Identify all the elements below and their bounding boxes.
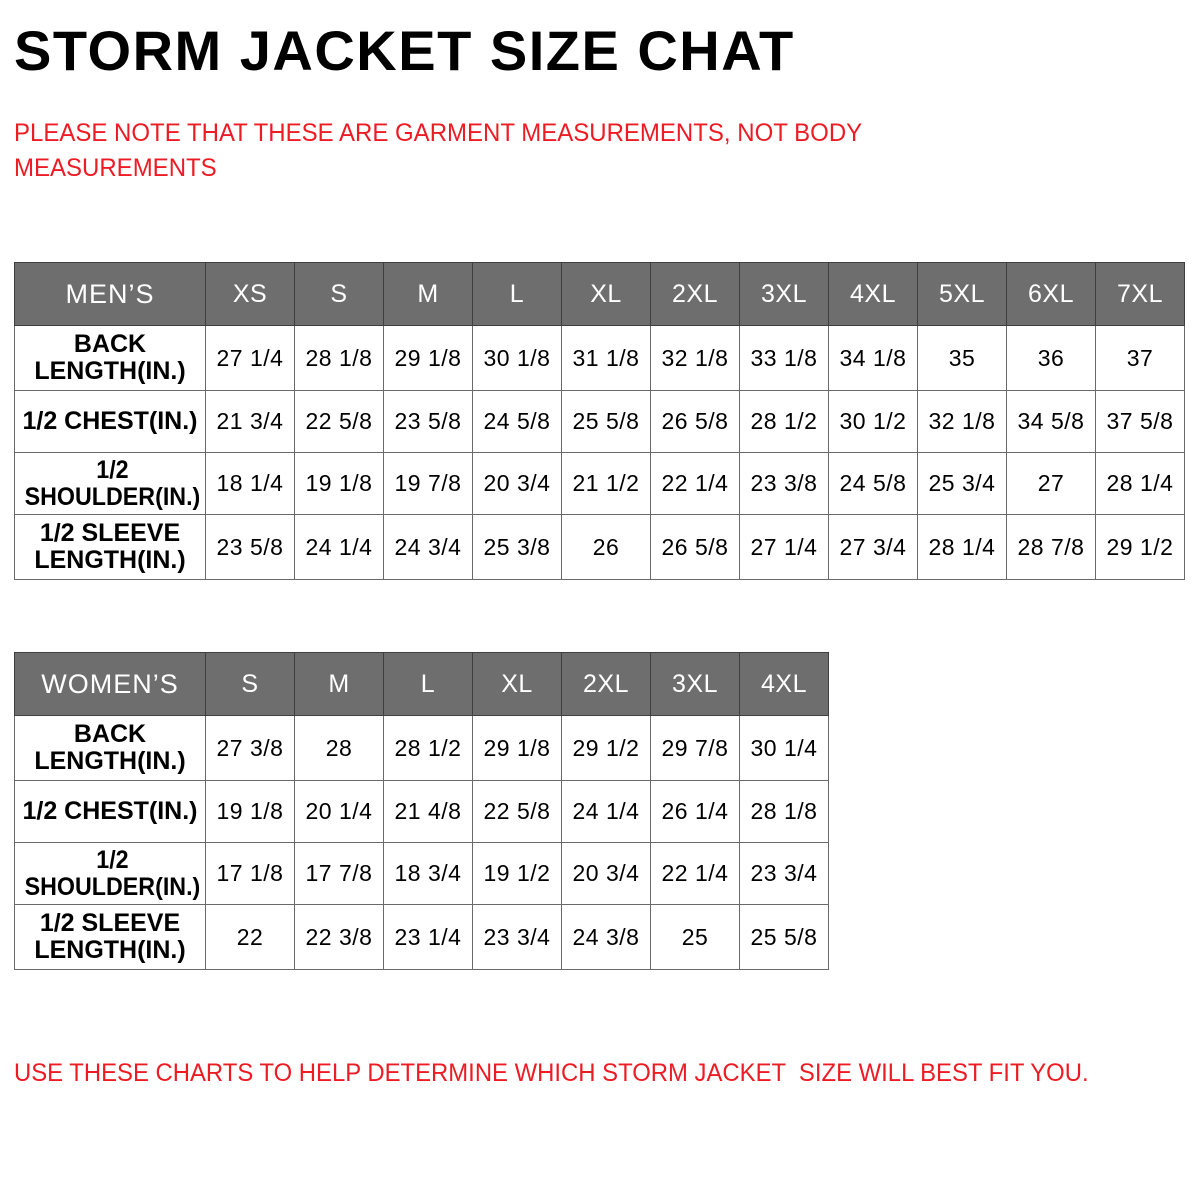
measurement-cell: 21 1/2 — [562, 453, 651, 515]
measurement-cell: 20 3/4 — [562, 843, 651, 905]
measurement-cell: 19 7/8 — [384, 453, 473, 515]
measurement-row-label: BACK LENGTH(IN.) — [15, 326, 206, 391]
table-row: 1/2 SLEEVE LENGTH(IN.)23 5/824 1/424 3/4… — [15, 515, 1185, 580]
measurement-cell: 27 3/8 — [206, 716, 295, 781]
measurement-cell: 22 — [206, 905, 295, 970]
table-row: 1/2 CHEST(IN.)21 3/422 5/823 5/824 5/825… — [15, 391, 1185, 453]
measurement-cell: 28 1/8 — [740, 781, 829, 843]
size-chart-page: STORM JACKET SIZE CHAT PLEASE NOTE THAT … — [0, 0, 1200, 1200]
size-header-5xl: 5XL — [918, 263, 1007, 326]
measurement-cell: 20 3/4 — [473, 453, 562, 515]
row-label-text: 1/2 SHOULDER(IN.) — [25, 847, 201, 901]
measurement-row-label: 1/2 SLEEVE LENGTH(IN.) — [15, 905, 206, 970]
measurement-cell: 28 1/2 — [384, 716, 473, 781]
measurement-cell: 23 1/4 — [384, 905, 473, 970]
size-header-7xl: 7XL — [1096, 263, 1185, 326]
table-row: 1/2 CHEST(IN.)19 1/820 1/421 4/822 5/824… — [15, 781, 829, 843]
size-header-l: L — [473, 263, 562, 326]
measurement-cell: 19 1/8 — [295, 453, 384, 515]
size-header-4xl: 4XL — [740, 653, 829, 716]
table-row: BACK LENGTH(IN.)27 1/428 1/829 1/830 1/8… — [15, 326, 1185, 391]
womens-table-header: WOMEN’S SMLXL2XL3XL4XL — [15, 653, 829, 716]
measurement-cell: 26 1/4 — [651, 781, 740, 843]
measurement-cell: 18 3/4 — [384, 843, 473, 905]
measurement-cell: 29 1/2 — [1096, 515, 1185, 580]
mens-header-row: MEN’S XSSMLXL2XL3XL4XL5XL6XL7XL — [15, 263, 1185, 326]
mens-size-table: MEN’S XSSMLXL2XL3XL4XL5XL6XL7XL BACK LEN… — [14, 262, 1185, 580]
measurement-cell: 33 1/8 — [740, 326, 829, 391]
measurement-cell: 25 5/8 — [562, 391, 651, 453]
measurement-cell: 36 — [1007, 326, 1096, 391]
measurement-cell: 21 3/4 — [206, 391, 295, 453]
measurement-cell: 24 5/8 — [473, 391, 562, 453]
measurement-cell: 35 — [918, 326, 1007, 391]
measurement-cell: 28 1/4 — [1096, 453, 1185, 515]
measurement-cell: 22 1/4 — [651, 843, 740, 905]
measurement-cell: 24 3/8 — [562, 905, 651, 970]
measurement-cell: 25 3/8 — [473, 515, 562, 580]
page-title: STORM JACKET SIZE CHAT — [14, 22, 795, 81]
measurement-cell: 34 1/8 — [829, 326, 918, 391]
garment-measurement-note: PLEASE NOTE THAT THESE ARE GARMENT MEASU… — [14, 116, 936, 185]
measurement-cell: 29 1/2 — [562, 716, 651, 781]
measurement-cell: 17 1/8 — [206, 843, 295, 905]
measurement-cell: 28 1/8 — [295, 326, 384, 391]
measurement-cell: 29 1/8 — [473, 716, 562, 781]
measurement-row-label: 1/2 CHEST(IN.) — [15, 391, 206, 453]
measurement-row-label: BACK LENGTH(IN.) — [15, 716, 206, 781]
measurement-row-label: 1/2 SHOULDER(IN.) — [15, 843, 206, 905]
row-label-text: BACK LENGTH(IN.) — [34, 720, 185, 775]
measurement-cell: 28 7/8 — [1007, 515, 1096, 580]
size-header-xs: XS — [206, 263, 295, 326]
measurement-cell: 23 3/4 — [740, 843, 829, 905]
measurement-cell: 26 — [562, 515, 651, 580]
measurement-cell: 34 5/8 — [1007, 391, 1096, 453]
measurement-cell: 37 5/8 — [1096, 391, 1185, 453]
size-header-xl: XL — [562, 263, 651, 326]
measurement-cell: 32 1/8 — [918, 391, 1007, 453]
measurement-cell: 25 5/8 — [740, 905, 829, 970]
size-header-m: M — [295, 653, 384, 716]
measurement-cell: 26 5/8 — [651, 515, 740, 580]
row-label-text: 1/2 SLEEVE LENGTH(IN.) — [34, 909, 185, 964]
measurement-cell: 27 3/4 — [829, 515, 918, 580]
measurement-row-label: 1/2 SLEEVE LENGTH(IN.) — [15, 515, 206, 580]
womens-size-table: WOMEN’S SMLXL2XL3XL4XL BACK LENGTH(IN.)2… — [14, 652, 829, 970]
measurement-cell: 24 1/4 — [562, 781, 651, 843]
measurement-cell: 22 5/8 — [295, 391, 384, 453]
measurement-cell: 23 3/8 — [740, 453, 829, 515]
womens-table-body: BACK LENGTH(IN.)27 3/82828 1/229 1/829 1… — [15, 716, 829, 970]
measurement-cell: 23 5/8 — [206, 515, 295, 580]
mens-corner-label: MEN’S — [15, 263, 206, 326]
measurement-cell: 37 — [1096, 326, 1185, 391]
measurement-cell: 31 1/8 — [562, 326, 651, 391]
row-label-text: 1/2 SHOULDER(IN.) — [25, 457, 201, 511]
size-header-s: S — [295, 263, 384, 326]
measurement-cell: 17 7/8 — [295, 843, 384, 905]
measurement-cell: 30 1/8 — [473, 326, 562, 391]
measurement-cell: 30 1/4 — [740, 716, 829, 781]
measurement-cell: 27 1/4 — [206, 326, 295, 391]
womens-corner-label: WOMEN’S — [15, 653, 206, 716]
womens-header-row: WOMEN’S SMLXL2XL3XL4XL — [15, 653, 829, 716]
size-header-4xl: 4XL — [829, 263, 918, 326]
table-row: 1/2 SHOULDER(IN.)18 1/419 1/819 7/820 3/… — [15, 453, 1185, 515]
size-header-2xl: 2XL — [651, 263, 740, 326]
measurement-cell: 20 1/4 — [295, 781, 384, 843]
row-label-text: 1/2 SLEEVE LENGTH(IN.) — [34, 519, 185, 574]
row-label-text: 1/2 CHEST(IN.) — [22, 797, 197, 825]
measurement-cell: 29 1/8 — [384, 326, 473, 391]
measurement-cell: 32 1/8 — [651, 326, 740, 391]
measurement-cell: 23 5/8 — [384, 391, 473, 453]
measurement-cell: 25 3/4 — [918, 453, 1007, 515]
measurement-cell: 22 3/8 — [295, 905, 384, 970]
measurement-cell: 24 5/8 — [829, 453, 918, 515]
measurement-cell: 19 1/8 — [206, 781, 295, 843]
measurement-cell: 28 1/4 — [918, 515, 1007, 580]
measurement-cell: 24 1/4 — [295, 515, 384, 580]
footer-help-note: USE THESE CHARTS TO HELP DETERMINE WHICH… — [14, 1057, 1122, 1090]
measurement-cell: 27 1/4 — [740, 515, 829, 580]
size-header-2xl: 2XL — [562, 653, 651, 716]
size-header-3xl: 3XL — [740, 263, 829, 326]
row-label-text: 1/2 CHEST(IN.) — [22, 407, 197, 435]
mens-table-body: BACK LENGTH(IN.)27 1/428 1/829 1/830 1/8… — [15, 326, 1185, 580]
measurement-cell: 28 — [295, 716, 384, 781]
size-header-6xl: 6XL — [1007, 263, 1096, 326]
measurement-cell: 22 5/8 — [473, 781, 562, 843]
size-header-3xl: 3XL — [651, 653, 740, 716]
measurement-cell: 30 1/2 — [829, 391, 918, 453]
measurement-row-label: 1/2 SHOULDER(IN.) — [15, 453, 206, 515]
mens-table-header: MEN’S XSSMLXL2XL3XL4XL5XL6XL7XL — [15, 263, 1185, 326]
measurement-cell: 27 — [1007, 453, 1096, 515]
measurement-cell: 24 3/4 — [384, 515, 473, 580]
table-row: BACK LENGTH(IN.)27 3/82828 1/229 1/829 1… — [15, 716, 829, 781]
measurement-cell: 26 5/8 — [651, 391, 740, 453]
measurement-cell: 25 — [651, 905, 740, 970]
size-header-s: S — [206, 653, 295, 716]
measurement-cell: 28 1/2 — [740, 391, 829, 453]
measurement-row-label: 1/2 CHEST(IN.) — [15, 781, 206, 843]
measurement-cell: 29 7/8 — [651, 716, 740, 781]
measurement-cell: 18 1/4 — [206, 453, 295, 515]
size-header-xl: XL — [473, 653, 562, 716]
size-header-m: M — [384, 263, 473, 326]
size-header-l: L — [384, 653, 473, 716]
measurement-cell: 19 1/2 — [473, 843, 562, 905]
measurement-cell: 23 3/4 — [473, 905, 562, 970]
table-row: 1/2 SLEEVE LENGTH(IN.)2222 3/823 1/423 3… — [15, 905, 829, 970]
table-row: 1/2 SHOULDER(IN.)17 1/817 7/818 3/419 1/… — [15, 843, 829, 905]
measurement-cell: 22 1/4 — [651, 453, 740, 515]
row-label-text: BACK LENGTH(IN.) — [34, 330, 185, 385]
measurement-cell: 21 4/8 — [384, 781, 473, 843]
